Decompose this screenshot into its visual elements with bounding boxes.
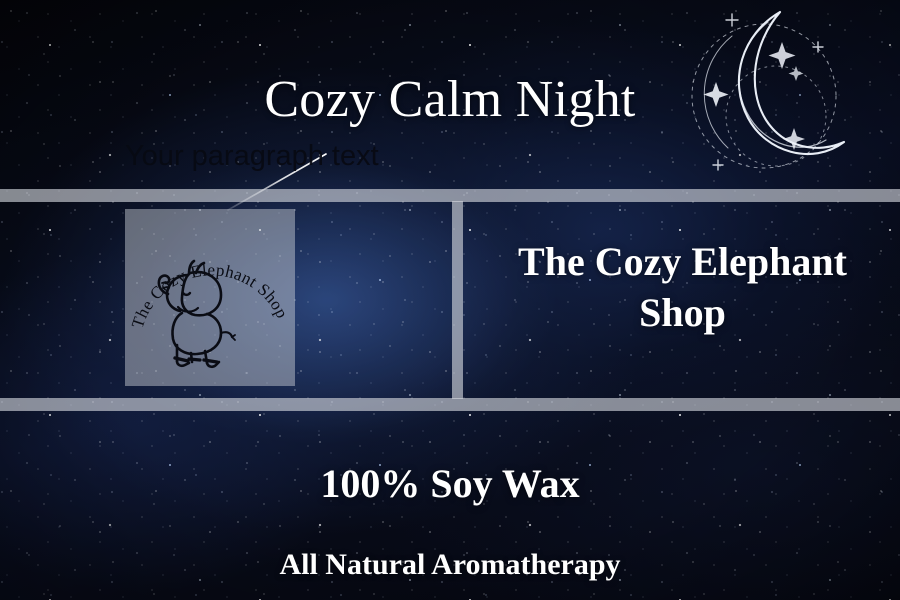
divider-bottom	[0, 398, 900, 411]
logo-badge: The Cozy Elephant Shop	[125, 209, 295, 386]
divider-top	[0, 189, 900, 202]
poster-canvas: Cozy Calm Night Your paragraph text The …	[0, 0, 900, 600]
divider-vertical	[452, 201, 463, 399]
paragraph-placeholder-text: Your paragraph text	[125, 142, 379, 171]
logo-arc-text: The Cozy Elephant Shop	[128, 260, 292, 330]
subheadline: All Natural Aromatherapy	[0, 550, 900, 580]
brand-name: The Cozy Elephant Shop	[470, 236, 895, 338]
headline: 100% Soy Wax	[0, 464, 900, 504]
svg-text:The Cozy Elephant Shop: The Cozy Elephant Shop	[128, 260, 292, 330]
page-title: Cozy Calm Night	[0, 74, 900, 126]
